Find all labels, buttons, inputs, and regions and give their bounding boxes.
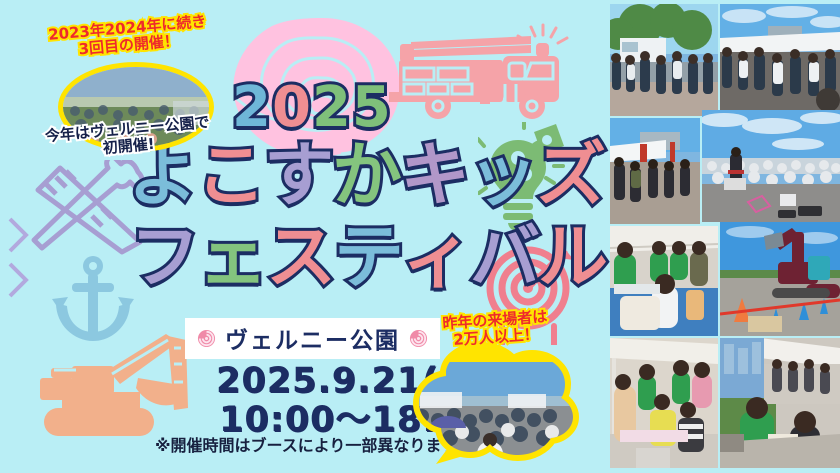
photo-craft-tent: [610, 338, 718, 468]
photo-tent-crowd: [720, 4, 840, 116]
title2-char-6: ル: [538, 222, 606, 292]
title2-char-0: フ: [130, 222, 198, 292]
rose-icon: [197, 329, 216, 348]
chevron-icon: [6, 260, 32, 300]
title2-char-2: ス: [266, 222, 334, 292]
venue-label: ヴェルニー公園: [225, 321, 400, 355]
photo-excavator-ride: [720, 222, 840, 336]
title2-char-3: テ: [334, 222, 402, 292]
year-char-0: 2: [232, 80, 272, 136]
title1-char-2: す: [264, 140, 332, 210]
title1-char-5: ッ: [468, 140, 536, 210]
year-char-2: 2: [312, 80, 352, 136]
chevron-icon: [6, 215, 32, 255]
title1-char-3: か: [332, 140, 400, 210]
title-line-2: フェスティバル: [130, 222, 606, 292]
year-char-1: 0: [272, 80, 312, 136]
title2-char-4: ィ: [402, 222, 470, 292]
title1-char-6: ズ: [536, 140, 604, 210]
year-heading: 2025: [232, 80, 392, 136]
photo-green-staff-booth: [610, 226, 718, 336]
photo-food-truck-crowd: [610, 4, 718, 116]
photo-booth-street: [610, 118, 700, 224]
title2-char-5: バ: [470, 222, 538, 292]
badge-sub-text: 今年はヴェルニー公園で 初開催!: [23, 112, 233, 164]
anchor-icon: [48, 255, 138, 345]
badge-lead-text: 2023年2024年に続き 3回目の開催！: [27, 11, 229, 62]
badge-attendance: 昨年の来場者は 2万人以上！: [408, 312, 583, 464]
fire-truck-icon: [385, 22, 575, 127]
badge-sub-line-2: 初開催!: [102, 135, 155, 157]
photo-collage: [610, 0, 840, 473]
badge-third-edition: 2023年2024年に続き 3回目の開催！ 今年はヴェルニー公園で 初開催!: [28, 18, 228, 168]
poster-root: 2025 よこすかキッズ フェスティバル ヴェルニー公園 2025.9.21(日…: [0, 0, 840, 473]
title2-char-1: ェ: [198, 222, 266, 292]
year-char-3: 5: [352, 80, 392, 136]
photo-workshop-lawn: [720, 338, 840, 468]
cloud-photo-frame: [412, 336, 580, 464]
title1-char-4: キ: [400, 140, 468, 210]
photo-stage-audience: [702, 110, 840, 222]
